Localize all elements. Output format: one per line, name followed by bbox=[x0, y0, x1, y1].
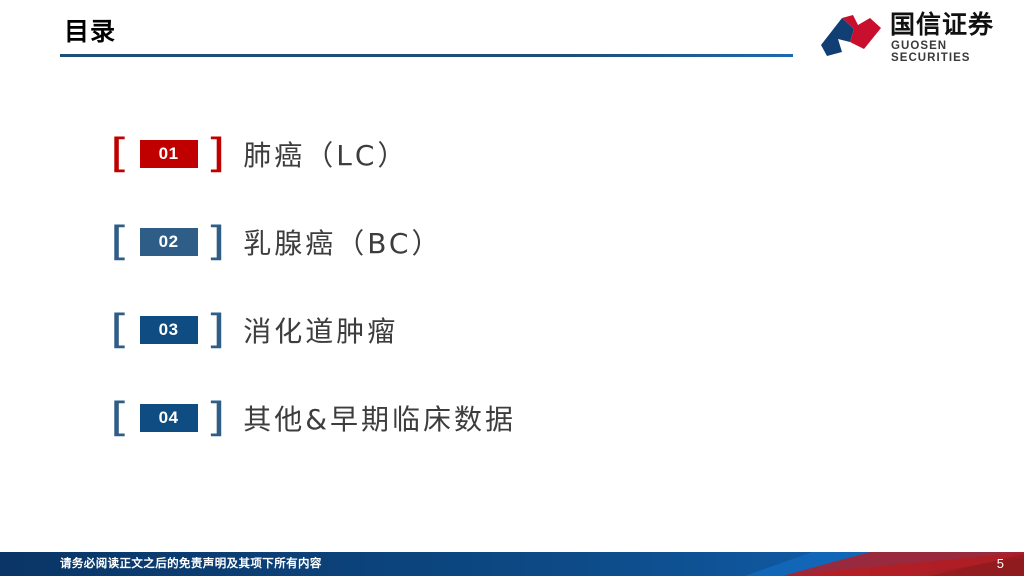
toc-item-label: 其他&早期临床数据 bbox=[243, 398, 516, 438]
toc-item-04[interactable]: [ 04 ] 其他&早期临床数据 bbox=[112, 392, 516, 444]
toc-number-badge: 01 bbox=[140, 140, 198, 168]
logo-name-cn: 国信证券 bbox=[890, 12, 994, 40]
toc-item-label: 消化道肿瘤 bbox=[243, 310, 398, 350]
left-bracket-icon: [ bbox=[110, 310, 130, 350]
left-bracket-icon: [ bbox=[110, 222, 130, 262]
footer-disclaimer: 请务必阅读正文之后的免责声明及其项下所有内容 bbox=[60, 556, 322, 572]
logo-name-en: GUOSEN SECURITIES bbox=[891, 41, 1000, 64]
page-number: 5 bbox=[997, 555, 1004, 573]
right-bracket-icon: ] bbox=[206, 134, 226, 174]
toc-item-01[interactable]: [ 01 ] 肺癌（LC） bbox=[112, 128, 408, 180]
toc-item-03[interactable]: [ 03 ] 消化道肿瘤 bbox=[112, 304, 398, 356]
right-bracket-icon: ] bbox=[206, 222, 226, 262]
toc-item-02[interactable]: [ 02 ] 乳腺癌（BC） bbox=[112, 216, 443, 268]
page-title: 目录 bbox=[64, 20, 116, 45]
toc-number-badge: 03 bbox=[140, 316, 198, 344]
right-bracket-icon: ] bbox=[206, 398, 226, 438]
toc-item-label: 乳腺癌（BC） bbox=[243, 222, 442, 262]
company-logo: 国信证券 GUOSEN SECURITIES bbox=[820, 10, 1000, 62]
left-bracket-icon: [ bbox=[110, 398, 130, 438]
footer-bar: 请务必阅读正文之后的免责声明及其项下所有内容 5 bbox=[0, 552, 1024, 576]
toc-item-label: 肺癌（LC） bbox=[243, 134, 408, 174]
guosen-logo-mark bbox=[820, 12, 882, 58]
toc-number-badge: 04 bbox=[140, 404, 198, 432]
right-bracket-icon: ] bbox=[206, 310, 226, 350]
slide: 目录 国信证券 GUOSEN SECURITIES [ 01 ] 肺癌（LC） … bbox=[0, 0, 1024, 576]
toc-number-badge: 02 bbox=[140, 228, 198, 256]
title-underline bbox=[60, 54, 793, 57]
left-bracket-icon: [ bbox=[110, 134, 130, 174]
